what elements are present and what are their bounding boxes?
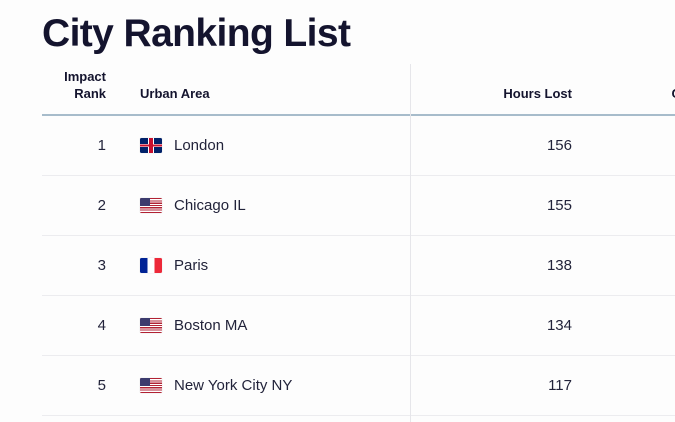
table-header: Impact Rank Urban Area Hours Lost Chang [42, 68, 675, 115]
column-header-hours-lost[interactable]: Hours Lost [410, 68, 602, 115]
cell-hours-lost: 117 [410, 356, 602, 416]
column-header-urban-area[interactable]: Urban Area [112, 68, 410, 115]
cell-change [602, 236, 675, 296]
ranking-table: Impact Rank Urban Area Hours Lost Chang … [42, 68, 675, 416]
flag-united-kingdom-icon [140, 138, 162, 153]
cell-urban-area: Boston MA [112, 296, 410, 356]
table-row[interactable]: 5 New York City NY 117 [42, 356, 675, 416]
cell-hours-lost: 156 [410, 115, 602, 176]
city-name: London [174, 137, 224, 154]
city-name: Chicago IL [174, 197, 246, 214]
cell-urban-area: New York City NY [112, 356, 410, 416]
city-name: Boston MA [174, 317, 247, 334]
column-header-impact-rank[interactable]: Impact Rank [42, 68, 112, 115]
column-divider [410, 64, 411, 422]
table-row[interactable]: 4 Boston MA 134 [42, 296, 675, 356]
city-name: New York City NY [174, 377, 292, 394]
cell-impact-rank: 2 [42, 176, 112, 236]
cell-change [602, 296, 675, 356]
cell-urban-area: Paris [112, 236, 410, 296]
table-row[interactable]: 3 Paris 138 [42, 236, 675, 296]
table-body: 1 London 156 2 Chica [42, 115, 675, 416]
cell-urban-area: Chicago IL [112, 176, 410, 236]
cell-impact-rank: 4 [42, 296, 112, 356]
cell-impact-rank: 3 [42, 236, 112, 296]
cell-change [602, 176, 675, 236]
city-name: Paris [174, 257, 208, 274]
cell-hours-lost: 134 [410, 296, 602, 356]
city-ranking-page: City Ranking List Impact Rank Urban Area… [0, 0, 675, 422]
column-header-change[interactable]: Chang [602, 68, 675, 115]
flag-united-states-icon [140, 198, 162, 213]
ranking-table-container: Impact Rank Urban Area Hours Lost Chang … [42, 68, 675, 422]
cell-impact-rank: 1 [42, 115, 112, 176]
flag-united-states-icon [140, 318, 162, 333]
flag-france-icon [140, 258, 162, 273]
cell-change [602, 356, 675, 416]
cell-hours-lost: 155 [410, 176, 602, 236]
cell-impact-rank: 5 [42, 356, 112, 416]
cell-urban-area: London [112, 115, 410, 176]
table-row[interactable]: 1 London 156 [42, 115, 675, 176]
flag-united-states-icon [140, 378, 162, 393]
page-title: City Ranking List [42, 8, 350, 60]
cell-hours-lost: 138 [410, 236, 602, 296]
table-header-row: Impact Rank Urban Area Hours Lost Chang [42, 68, 675, 115]
cell-change [602, 115, 675, 176]
column-header-impact-rank-line1: Impact [64, 69, 106, 84]
table-row[interactable]: 2 Chicago IL 155 [42, 176, 675, 236]
column-header-impact-rank-line2: Rank [74, 86, 106, 101]
